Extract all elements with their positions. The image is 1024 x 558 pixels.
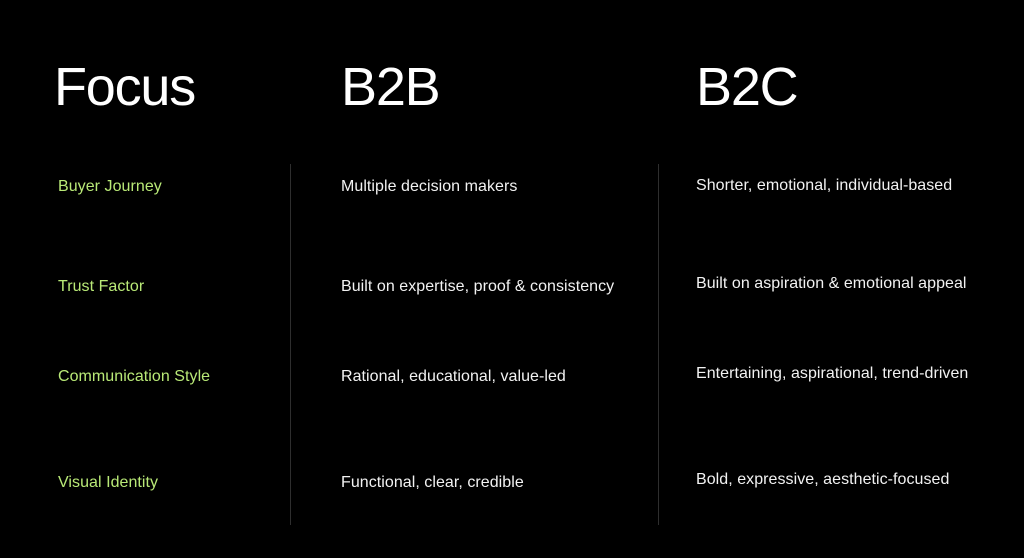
cell-b2c-trust-factor: Built on aspiration & emotional appeal — [696, 273, 967, 295]
row-label-communication-style: Communication Style — [58, 366, 210, 388]
table-body: Buyer Journey Multiple decision makers S… — [0, 0, 1024, 558]
cell-b2b-communication-style: Rational, educational, value-led — [341, 366, 566, 388]
table-row: Buyer Journey Multiple decision makers S… — [0, 176, 1024, 200]
row-label-trust-factor: Trust Factor — [58, 276, 144, 298]
table-row: Trust Factor Built on expertise, proof &… — [0, 276, 1024, 300]
cell-b2c-buyer-journey: Shorter, emotional, individual-based — [696, 175, 952, 197]
cell-b2b-buyer-journey: Multiple decision makers — [341, 176, 517, 198]
cell-b2b-visual-identity: Functional, clear, credible — [341, 472, 524, 494]
table-row: Communication Style Rational, educationa… — [0, 366, 1024, 390]
cell-b2b-trust-factor: Built on expertise, proof & consistency — [341, 276, 614, 298]
cell-b2c-visual-identity: Bold, expressive, aesthetic-focused — [696, 469, 949, 491]
table-row: Visual Identity Functional, clear, credi… — [0, 472, 1024, 496]
comparison-slide: Focus B2B B2C Buyer Journey Multiple dec… — [0, 0, 1024, 558]
row-label-buyer-journey: Buyer Journey — [58, 176, 162, 198]
cell-b2c-communication-style: Entertaining, aspirational, trend-driven — [696, 363, 968, 385]
row-label-visual-identity: Visual Identity — [58, 472, 158, 494]
